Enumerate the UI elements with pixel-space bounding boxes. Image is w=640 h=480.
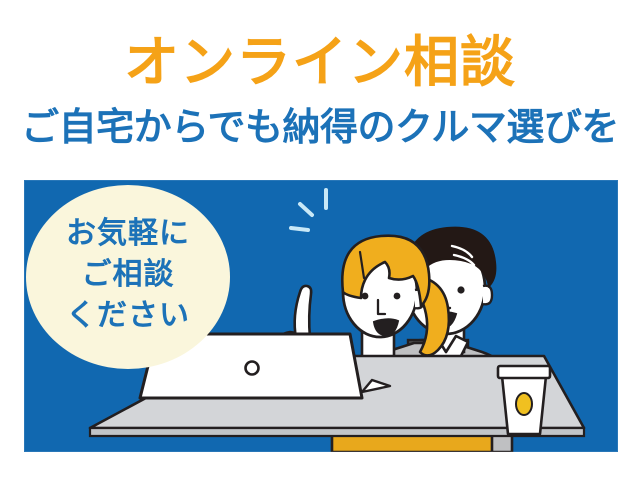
callout-badge-text: お気軽に ご相談 ください [26,213,230,336]
callout-line-2: ご相談 [26,254,230,295]
sparkle-icon [291,190,326,230]
headline-block: オンライン相談 ご自宅からでも納得のクルマ選びを [0,0,640,176]
page-title: オンライン相談 [0,31,640,93]
page-subtitle: ご自宅からでも納得のクルマ選びを [0,105,640,151]
callout-line-1: お気軽に [26,213,230,254]
coffee-cup-icon [498,366,550,434]
callout-line-3: ください [26,295,230,336]
online-consultation-banner: オンライン相談 ご自宅からでも納得のクルマ選びを [0,0,640,480]
illustration-panel: お気軽に ご相談 ください [24,180,618,452]
callout-badge: お気軽に ご相談 ください [26,185,230,369]
